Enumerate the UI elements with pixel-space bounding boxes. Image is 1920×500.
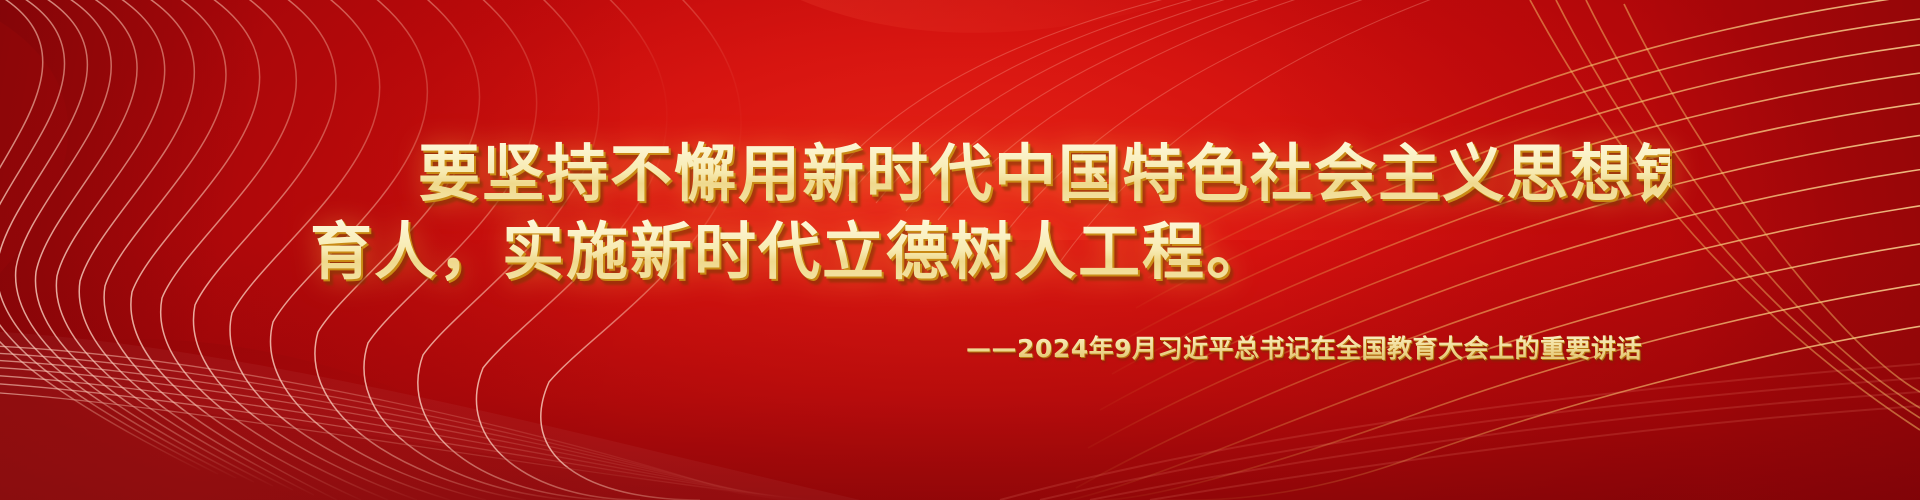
quote-line-1: 要坚持不懈用新时代中国特色社会主义思想铸魂 [310, 135, 1670, 213]
quote-line-2: 育人，实施新时代立德树人工程。 [310, 213, 1670, 291]
attribution-text: ——2024年9月习近平总书记在全国教育大会上的重要讲话 [966, 329, 1670, 365]
quote-block: 要坚持不懈用新时代中国特色社会主义思想铸魂 育人，实施新时代立德树人工程。 [250, 135, 1670, 291]
propaganda-banner: 要坚持不懈用新时代中国特色社会主义思想铸魂 育人，实施新时代立德树人工程。 ——… [0, 0, 1920, 500]
attribution-row: ——2024年9月习近平总书记在全国教育大会上的重要讲话 [250, 329, 1670, 365]
banner-content: 要坚持不懈用新时代中国特色社会主义思想铸魂 育人，实施新时代立德树人工程。 ——… [0, 0, 1920, 500]
